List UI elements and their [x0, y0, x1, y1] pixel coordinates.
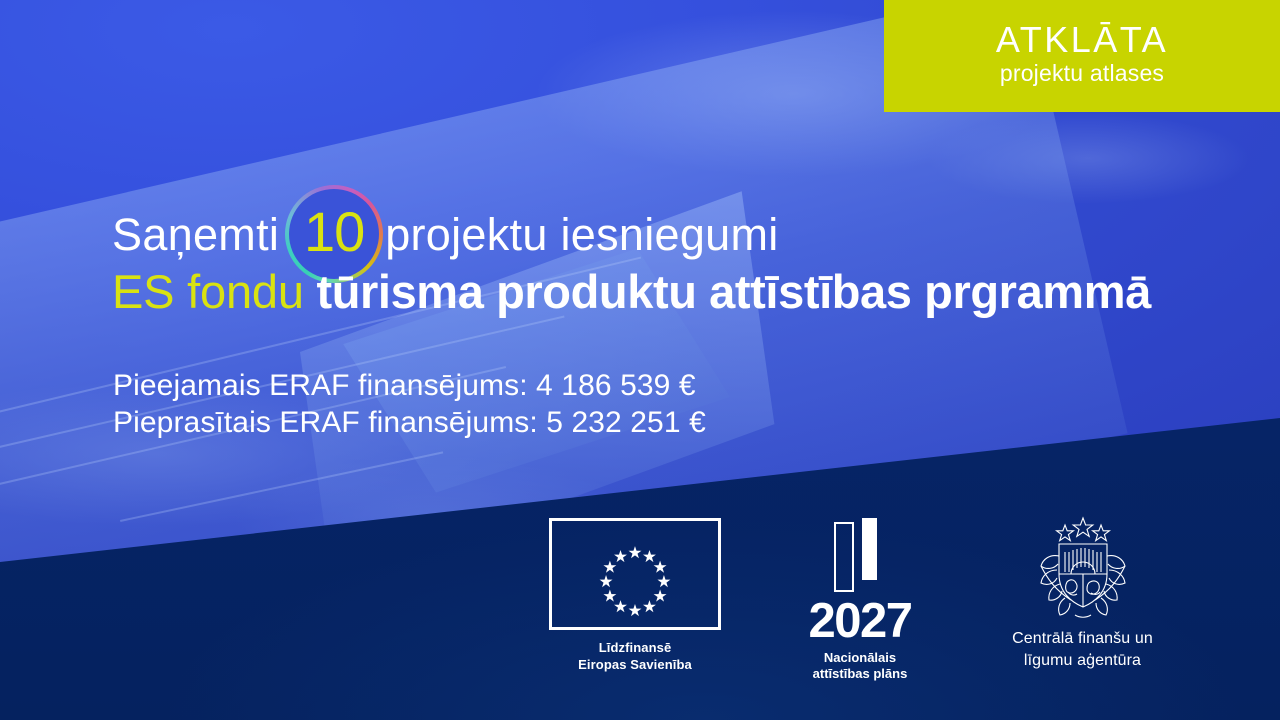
logo-european-union: Līdzfinansē Eiropas Savienība — [505, 518, 765, 674]
nap-year: 2027 — [808, 598, 911, 645]
nap-caption: Nacionālais attīstības plāns — [813, 650, 908, 684]
latvia-coat-of-arms-icon — [1027, 512, 1139, 624]
headline-strong-text: tūrisma produktu attīstības prgrammā — [316, 265, 1150, 318]
badge-subtitle: projektu atlases — [1000, 61, 1164, 86]
nap-caption-line2: attīstības plāns — [813, 666, 908, 683]
headline-prefix: Saņemti — [112, 212, 279, 257]
available-funding-line: Pieejamais ERAF finansējums: 4 186 539 € — [113, 368, 706, 405]
status-badge: ATKLĀTA projektu atlases — [884, 0, 1280, 112]
headline-secondary: ES fondu tūrisma produktu attīstības prg… — [112, 268, 1151, 315]
cfla-caption: Centrālā finanšu un līgumu aģentūra — [1012, 628, 1153, 671]
nap-bar-outline — [834, 522, 854, 592]
logo-national-development-plan: 2027 Nacionālais attīstības plāns — [760, 518, 960, 683]
logo-strip: Līdzfinansē Eiropas Savienība 2027 Nacio… — [0, 512, 1280, 692]
infographic-slide: ATKLĀTA projektu atlases Saņemti 10 proj… — [0, 0, 1280, 720]
eu-caption-line2: Eiropas Savienība — [578, 656, 692, 673]
nap-caption-line1: Nacionālais — [813, 650, 908, 667]
nap-bar-filled — [862, 518, 877, 580]
headline-accent-text: ES fondu — [112, 265, 304, 318]
eu-caption: Līdzfinansē Eiropas Savienība — [578, 639, 692, 674]
eu-caption-line1: Līdzfinansē — [578, 639, 692, 656]
headline-suffix: projektu iesniegumi — [385, 212, 778, 257]
funding-figures: Pieejamais ERAF finansējums: 4 186 539 €… — [113, 368, 706, 441]
project-count-value: 10 — [304, 204, 364, 264]
eu-stars-svg — [552, 521, 718, 629]
eu-flag-stars-icon — [549, 518, 721, 630]
badge-title: ATKLĀTA — [996, 21, 1168, 59]
cfla-caption-line2: līgumu aģentūra — [1012, 650, 1153, 672]
nap-bars-icon — [828, 518, 892, 592]
requested-funding-line: Pieprasītais ERAF finansējums: 5 232 251… — [113, 405, 706, 442]
logo-cfla: Centrālā finanšu un līgumu aģentūra — [955, 512, 1210, 671]
cfla-caption-line1: Centrālā finanšu un — [1012, 628, 1153, 650]
